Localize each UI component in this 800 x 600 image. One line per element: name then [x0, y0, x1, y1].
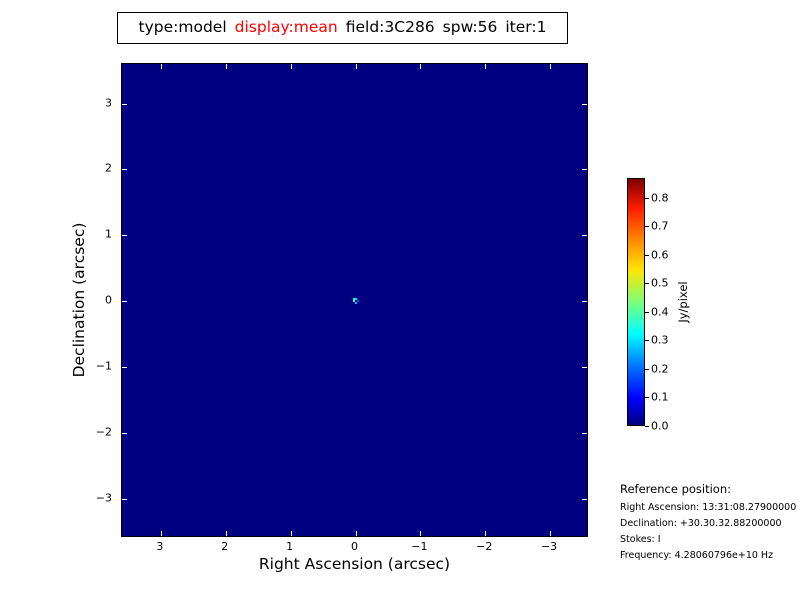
sky-image-plot[interactable]: [121, 63, 588, 537]
y-axis-tick-right: [582, 367, 587, 368]
y-axis-tick-right: [582, 235, 587, 236]
colorbar-tick: [645, 369, 649, 370]
y-axis-tick-label: −1: [112, 360, 128, 371]
colorbar-tick-label: 0.7: [651, 221, 669, 232]
y-axis-tick: [122, 169, 127, 170]
x-axis-tick-label: 1: [286, 541, 293, 552]
y-axis-tick-label: 3: [112, 97, 119, 108]
reference-position-heading: Reference position:: [620, 484, 800, 496]
y-axis-tick-right: [582, 499, 587, 500]
x-axis-tick: [356, 531, 357, 536]
colorbar-tick: [645, 255, 649, 256]
colorbar-tick: [645, 312, 649, 313]
x-axis-tick-top: [550, 64, 551, 69]
y-axis-tick-right: [582, 301, 587, 302]
title-segment-spw: spw:56: [439, 20, 502, 36]
y-axis-tick-right: [582, 433, 587, 434]
plot-title-box: type:model display:mean field:3C286 spw:…: [117, 12, 568, 44]
x-axis-tick-top: [485, 64, 486, 69]
y-axis-tick: [122, 104, 127, 105]
x-axis-tick-label: 0: [351, 541, 358, 552]
x-axis-tick-top: [356, 64, 357, 69]
source-pixel: [357, 300, 359, 302]
colorbar-tick: [645, 226, 649, 227]
colorbar-tick-label: 0.4: [651, 306, 669, 317]
y-axis-tick-right: [582, 104, 587, 105]
x-axis-tick-label: 2: [221, 541, 228, 552]
title-segment-display: display:mean: [231, 20, 342, 36]
y-axis-title: Declination (arcsec): [72, 63, 88, 537]
x-axis-tick-label: −3: [541, 541, 557, 552]
colorbar-tick: [645, 340, 649, 341]
y-axis-tick-label: 0: [112, 295, 119, 306]
x-axis-tick-top: [420, 64, 421, 69]
title-segment-iter: iter:1: [501, 20, 550, 36]
y-axis-tick-label: −2: [112, 426, 128, 437]
reference-position-stokes: Stokes: I: [620, 535, 800, 545]
y-axis-tick-right: [582, 169, 587, 170]
x-axis-tick: [420, 531, 421, 536]
y-axis-tick-label: 1: [112, 229, 119, 240]
colorbar-gradient: [627, 178, 645, 426]
x-axis-tick-label: 3: [156, 541, 163, 552]
colorbar-tick-label: 0.6: [651, 249, 669, 260]
x-axis-tick: [291, 531, 292, 536]
colorbar-tick-label: 0.1: [651, 392, 669, 403]
title-segment-type: type:model: [135, 20, 231, 36]
colorbar-tick: [645, 198, 649, 199]
x-axis-tick: [485, 531, 486, 536]
colorbar-tick: [645, 397, 649, 398]
source-pixel: [355, 302, 357, 304]
x-axis-tick-top: [291, 64, 292, 69]
x-axis-title: Right Ascension (arcsec): [121, 557, 588, 573]
colorbar[interactable]: [627, 178, 645, 426]
y-axis-tick-label: −3: [112, 492, 128, 503]
x-axis-tick: [161, 531, 162, 536]
title-segment-field: field:3C286: [342, 20, 439, 36]
colorbar-tick: [645, 283, 649, 284]
colorbar-unit-label: Jy/pixel: [678, 178, 690, 426]
y-axis-tick: [122, 301, 127, 302]
x-axis-tick-label: −2: [476, 541, 492, 552]
colorbar-tick: [645, 426, 649, 427]
x-axis-tick-label: −1: [411, 541, 427, 552]
x-axis-tick-top: [161, 64, 162, 69]
colorbar-tick-label: 0.5: [651, 278, 669, 289]
x-axis-tick: [226, 531, 227, 536]
reference-position-block: Reference position: Right Ascension: 13:…: [620, 484, 800, 567]
reference-position-dec: Declination: +30.30.32.88200000: [620, 519, 800, 529]
y-axis-tick: [122, 235, 127, 236]
colorbar-tick-label: 0.2: [651, 363, 669, 374]
x-axis-tick-top: [226, 64, 227, 69]
colorbar-tick-label: 0.0: [651, 421, 669, 432]
x-axis-tick: [550, 531, 551, 536]
reference-position-ra: Right Ascension: 13:31:08.27900000: [620, 503, 800, 513]
reference-position-frequency: Frequency: 4.28060796e+10 Hz: [620, 551, 800, 561]
colorbar-tick-label: 0.3: [651, 335, 669, 346]
colorbar-tick-label: 0.8: [651, 192, 669, 203]
y-axis-tick-label: 2: [112, 163, 119, 174]
